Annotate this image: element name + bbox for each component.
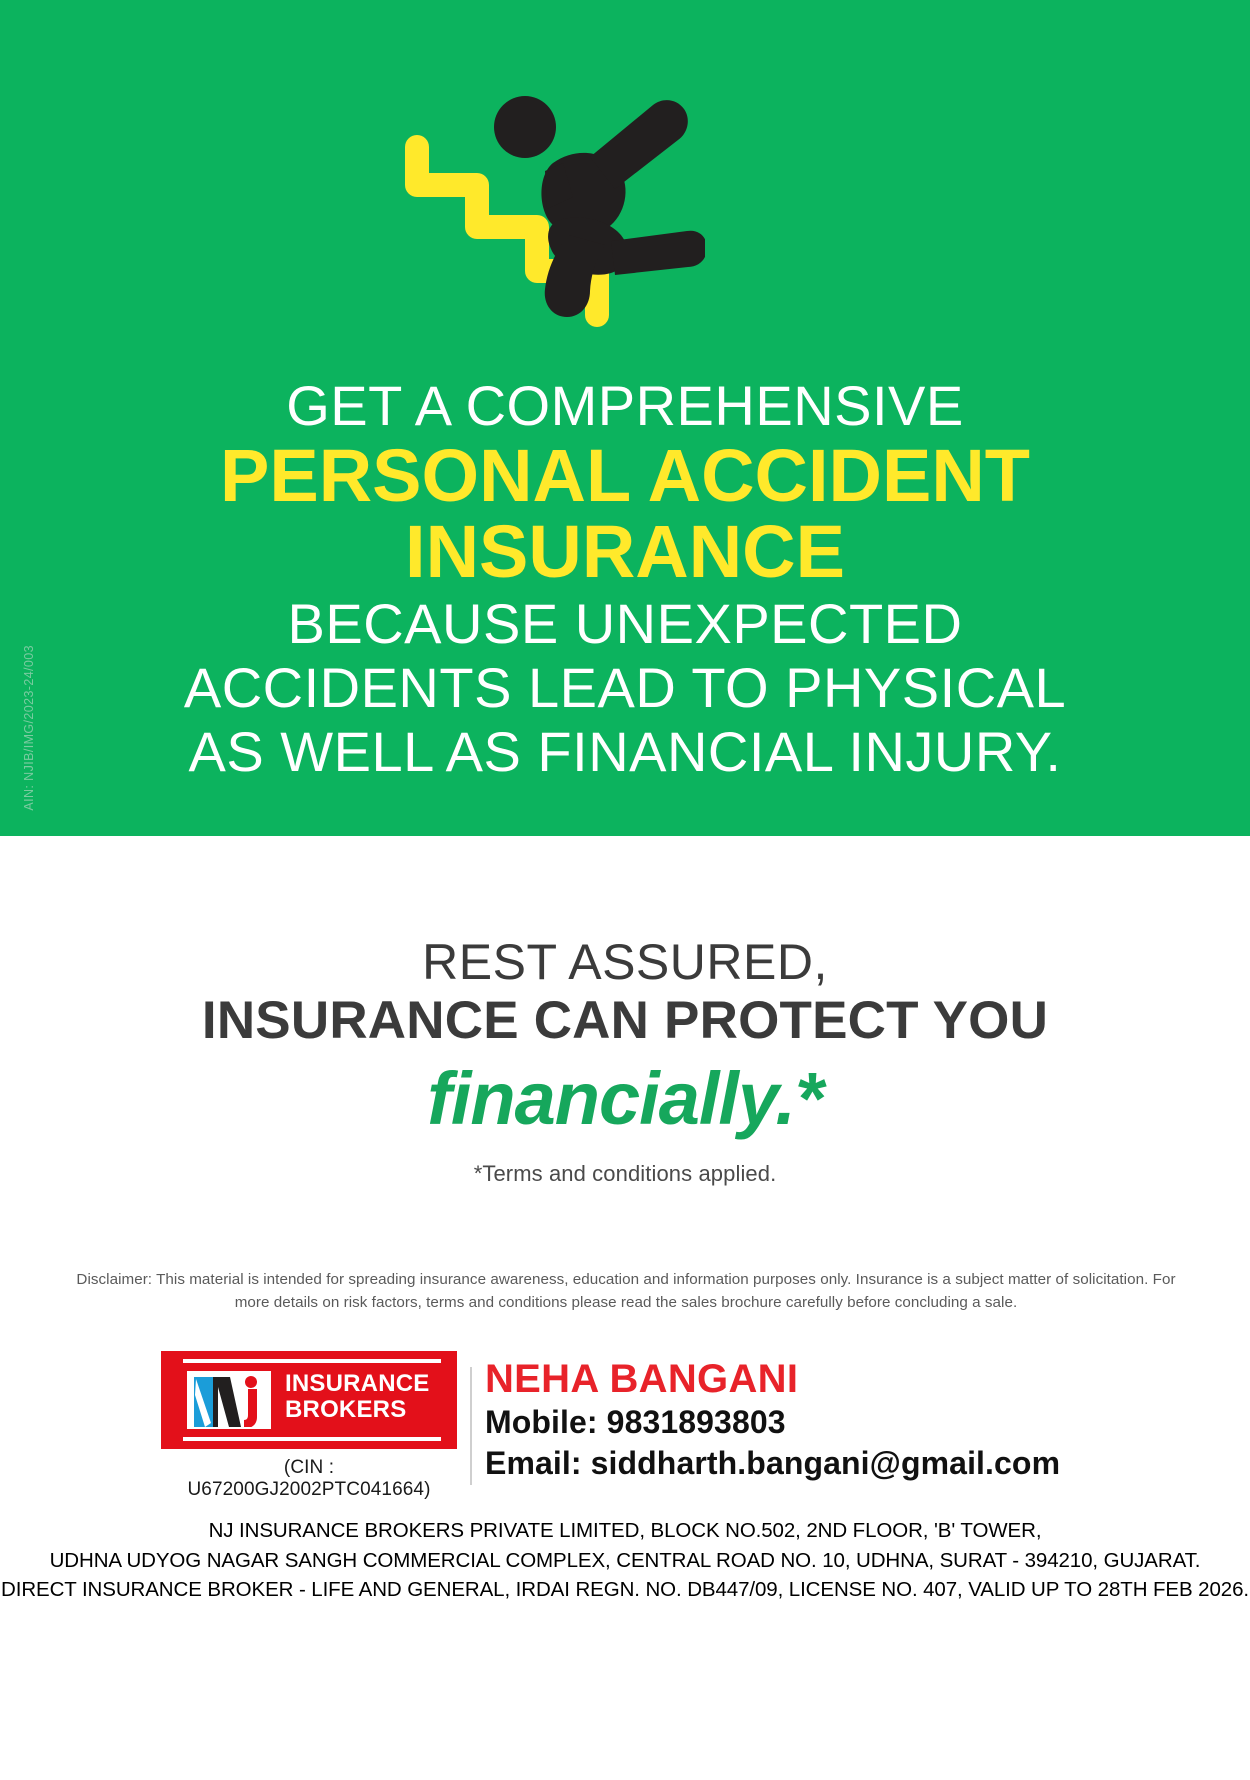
lower-panel: REST ASSURED, INSURANCE CAN PROTECT YOU …: [0, 836, 1250, 1780]
nj-insurance-brokers-logo: INSURANCE BROKERS (CIN : U67200GJ2002PTC…: [161, 1351, 457, 1501]
reassurance-message: REST ASSURED, INSURANCE CAN PROTECT YOU …: [0, 934, 1250, 1187]
footer-line-3: DIRECT INSURANCE BROKER - LIFE AND GENER…: [0, 1575, 1250, 1605]
contact-person-name: NEHA BANGANI: [485, 1357, 1060, 1402]
logo-word-brokers: BROKERS: [285, 1397, 429, 1423]
contact-details: NEHA BANGANI Mobile: 9831893803 Email: s…: [485, 1357, 1060, 1485]
vertical-divider: [470, 1367, 472, 1485]
message-line-1: REST ASSURED,: [0, 934, 1250, 990]
person-falling-down-stairs-icon: [405, 85, 705, 350]
headline-line-6: AS WELL AS FINANCIAL INJURY.: [0, 718, 1250, 782]
logo-red-box: INSURANCE BROKERS: [161, 1351, 457, 1449]
footer-line-2: UDHNA UDYOG NAGAR SANGH COMMERCIAL COMPL…: [0, 1546, 1250, 1576]
contact-email[interactable]: Email: siddharth.bangani@gmail.com: [485, 1443, 1060, 1485]
hero-headline: GET A COMPREHENSIVE PERSONAL ACCIDENT IN…: [0, 378, 1250, 782]
logo-rule-top: [183, 1359, 441, 1363]
brand-and-contact-row: INSURANCE BROKERS (CIN : U67200GJ2002PTC…: [0, 1351, 1250, 1496]
headline-line-1: GET A COMPREHENSIVE: [0, 378, 1250, 438]
logo-word-insurance: INSURANCE: [285, 1371, 429, 1397]
message-line-3-financially: financially.*: [0, 1053, 1250, 1144]
logo-rule-bottom: [183, 1437, 441, 1441]
hero-panel: AIN: NJIB/IMG/2023-24/003: [0, 0, 1250, 836]
headline-line-5: ACCIDENTS LEAD TO PHYSICAL: [0, 654, 1250, 718]
logo-wordmark: INSURANCE BROKERS: [285, 1371, 429, 1423]
headline-line-4: BECAUSE UNEXPECTED: [0, 590, 1250, 654]
footer-line-1: NJ INSURANCE BROKERS PRIVATE LIMITED, BL…: [0, 1516, 1250, 1546]
nj-monogram-icon: [187, 1371, 271, 1429]
footer-address: NJ INSURANCE BROKERS PRIVATE LIMITED, BL…: [0, 1516, 1250, 1605]
headline-line-3: INSURANCE: [0, 514, 1250, 590]
message-line-2: INSURANCE CAN PROTECT YOU: [0, 990, 1250, 1053]
disclaimer-text: Disclaimer: This material is intended fo…: [62, 1269, 1190, 1315]
terms-and-conditions-note: *Terms and conditions applied.: [0, 1143, 1250, 1187]
headline-line-2: PERSONAL ACCIDENT: [0, 438, 1250, 514]
cin-number: (CIN : U67200GJ2002PTC041664): [161, 1457, 457, 1501]
contact-mobile[interactable]: Mobile: 9831893803: [485, 1402, 1060, 1444]
